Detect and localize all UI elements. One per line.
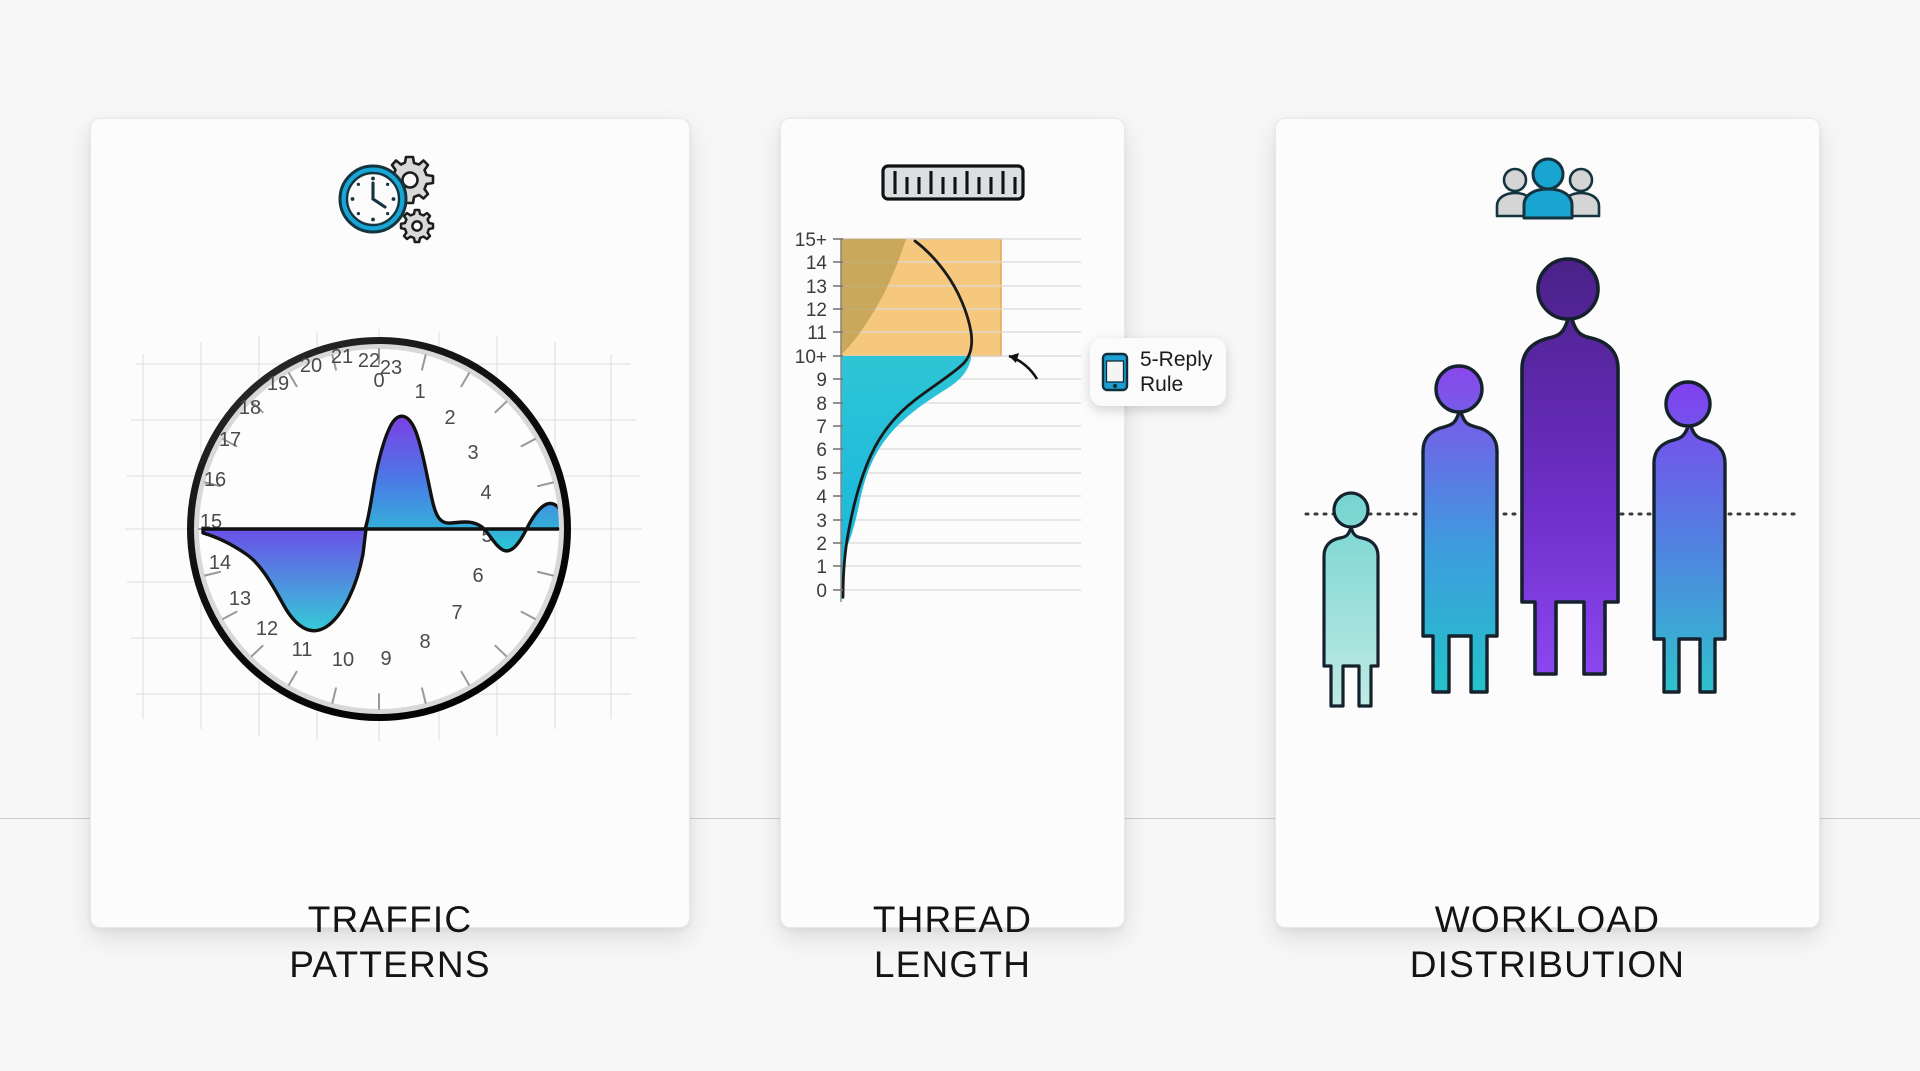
workload-figure-4 <box>1654 382 1725 692</box>
mobile-phone-icon <box>1100 352 1130 392</box>
svg-text:3: 3 <box>467 442 478 464</box>
workload-figure-2 <box>1423 366 1497 692</box>
svg-text:5: 5 <box>816 464 827 485</box>
workload-figure-3 <box>1522 259 1618 674</box>
svg-text:20: 20 <box>300 355 322 377</box>
card-title-line-1: WORKLOAD <box>1276 897 1819 942</box>
card-title-line-2: DISTRIBUTION <box>1276 942 1819 987</box>
svg-text:15+: 15+ <box>795 230 827 251</box>
card-title-thread-length: THREAD LENGTH <box>781 897 1124 987</box>
svg-text:4: 4 <box>816 487 827 508</box>
ruler-icon <box>880 154 1026 210</box>
people-group-icon <box>1493 154 1603 222</box>
ruler-icon-wrap <box>781 154 1124 210</box>
y-axis-labels: 15+ 14 13 12 11 10+ 9 8 7 6 5 4 3 2 1 0 <box>795 230 828 602</box>
svg-text:14: 14 <box>209 552 231 574</box>
workload-figure-1 <box>1324 493 1378 706</box>
svg-text:7: 7 <box>451 602 462 624</box>
svg-text:13: 13 <box>806 277 827 298</box>
svg-text:8: 8 <box>816 394 827 415</box>
people-group-icon-wrap <box>1276 154 1819 222</box>
svg-text:11: 11 <box>807 323 827 344</box>
card-title-line-2: PATTERNS <box>91 942 689 987</box>
workload-distribution-chart <box>1276 214 1821 754</box>
svg-text:18: 18 <box>239 397 261 419</box>
svg-text:19: 19 <box>267 373 289 395</box>
card-traffic-patterns[interactable]: 0 1 2 3 4 5 6 7 8 9 10 11 12 13 14 15 16… <box>90 118 690 928</box>
card-title-traffic-patterns: TRAFFIC PATTERNS <box>91 897 689 987</box>
card-title-line-1: THREAD <box>781 897 1124 942</box>
card-title-line-2: LENGTH <box>781 942 1124 987</box>
callout-arrow-head <box>1009 353 1019 363</box>
svg-text:10: 10 <box>332 649 354 671</box>
svg-text:9: 9 <box>816 370 827 391</box>
svg-text:4: 4 <box>480 482 491 504</box>
card-thread-length[interactable]: 15+ 14 13 12 11 10+ 9 8 7 6 5 4 3 2 1 0 <box>780 118 1125 928</box>
svg-text:21: 21 <box>331 346 353 368</box>
svg-text:12: 12 <box>256 618 278 640</box>
svg-text:6: 6 <box>816 440 827 461</box>
svg-text:8: 8 <box>419 631 430 653</box>
svg-text:9: 9 <box>380 648 391 670</box>
svg-text:17: 17 <box>219 429 241 451</box>
svg-text:11: 11 <box>292 639 313 661</box>
svg-text:10+: 10+ <box>795 347 827 368</box>
thread-length-chart: 15+ 14 13 12 11 10+ 9 8 7 6 5 4 3 2 1 0 <box>781 219 1126 739</box>
svg-text:3: 3 <box>816 511 827 532</box>
five-reply-rule-callout[interactable]: 5-Reply Rule <box>1090 338 1226 406</box>
infographic-stage: 0 1 2 3 4 5 6 7 8 9 10 11 12 13 14 15 16… <box>0 0 1920 1071</box>
svg-text:6: 6 <box>472 565 483 587</box>
card-title-line-1: TRAFFIC <box>91 897 689 942</box>
five-reply-rule-label: 5-Reply Rule <box>1140 347 1212 397</box>
svg-text:23: 23 <box>380 357 402 379</box>
svg-text:1: 1 <box>414 381 425 403</box>
svg-text:22: 22 <box>358 350 380 372</box>
card-title-workload-distribution: WORKLOAD DISTRIBUTION <box>1276 897 1819 987</box>
svg-text:2: 2 <box>444 407 455 429</box>
svg-text:1: 1 <box>816 557 827 578</box>
svg-text:12: 12 <box>806 300 827 321</box>
card-workload-distribution[interactable]: WORKLOAD DISTRIBUTION <box>1275 118 1820 928</box>
svg-text:16: 16 <box>204 469 226 491</box>
traffic-patterns-chart: 0 1 2 3 4 5 6 7 8 9 10 11 12 13 14 15 16… <box>91 224 689 824</box>
svg-text:0: 0 <box>816 581 827 602</box>
svg-text:14: 14 <box>806 253 828 274</box>
svg-text:2: 2 <box>816 534 827 555</box>
svg-text:13: 13 <box>229 588 251 610</box>
svg-text:7: 7 <box>816 417 827 438</box>
